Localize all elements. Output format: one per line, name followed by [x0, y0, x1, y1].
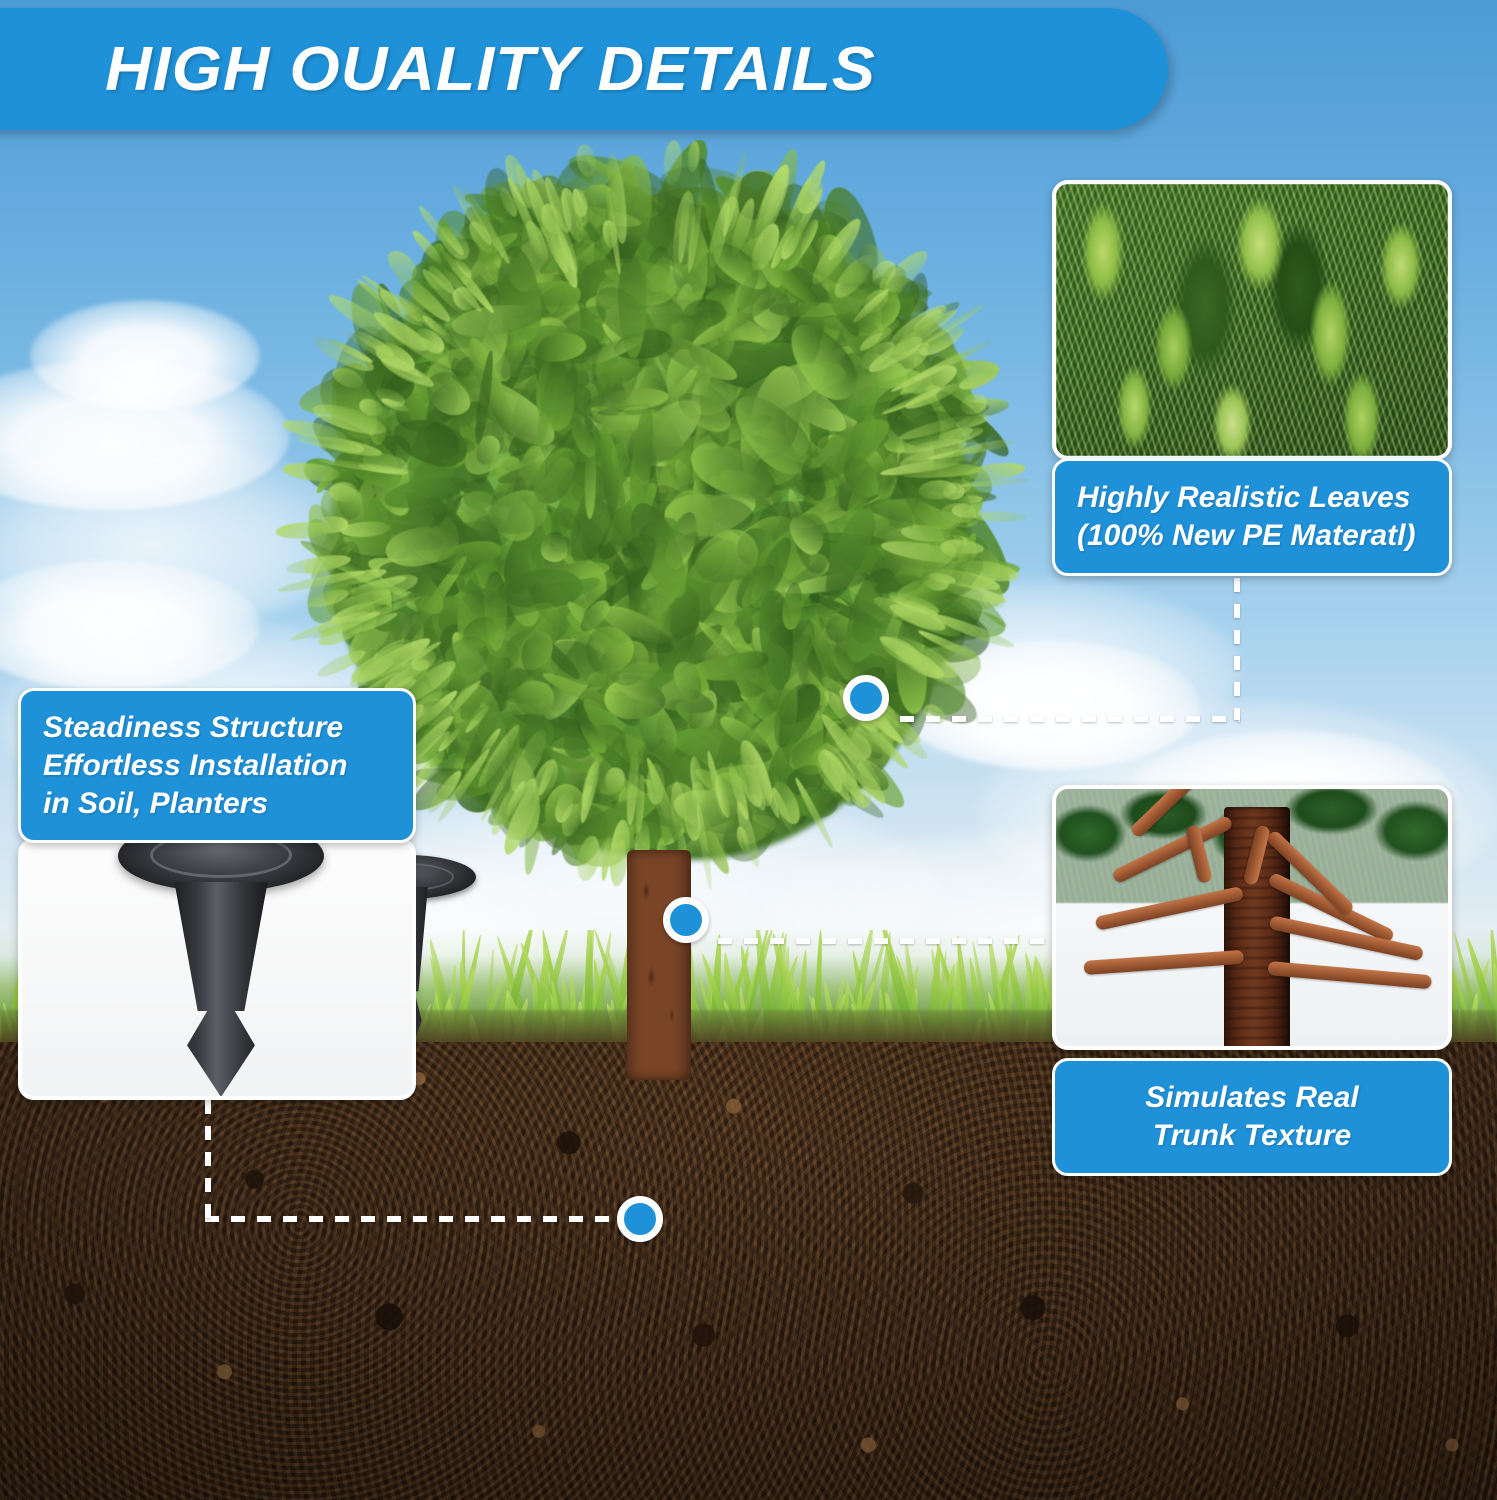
product-detail-infographic: HIGH OUALITY DETAILS Highly Realistic Le… [0, 0, 1497, 1500]
leaves-texture [1056, 184, 1448, 456]
stake-scene [22, 842, 412, 1096]
ground-stake-photo [18, 838, 416, 1100]
trunk-photo-branch [1084, 950, 1245, 975]
callout-label-stake-line1: Steadiness Structure [43, 709, 391, 747]
trunk-photo-branch [1267, 961, 1432, 989]
callout-line-stake-vertical [205, 1100, 211, 1220]
callout-line-trunk-horizontal [718, 938, 1054, 944]
callout-line-stake-horizontal [205, 1216, 647, 1222]
canopy-frond-tip [952, 503, 983, 518]
header-banner: HIGH OUALITY DETAILS [0, 8, 1168, 130]
callout-dot-trunk[interactable] [663, 897, 709, 943]
callout-label-trunk: Simulates Real Trunk Texture [1052, 1058, 1452, 1176]
callout-line-leaves-vertical [1234, 578, 1240, 720]
callout-label-stake-line3: in Soil, Planters [43, 785, 391, 823]
callout-label-stake-line2: Effortless Installation [43, 747, 391, 785]
callout-label-stake: Steadiness Structure Effortless Installa… [18, 688, 416, 843]
page-title: HIGH OUALITY DETAILS [105, 34, 876, 105]
trunk-closeup-photo [1052, 785, 1452, 1050]
canopy-frond-tip [647, 764, 665, 805]
stake-photo-spike [168, 882, 274, 1097]
leaves-closeup-photo [1052, 180, 1452, 460]
callout-dot-leaves[interactable] [843, 675, 889, 721]
trunk-bark-texture [627, 850, 691, 1080]
callout-label-leaves-line2: (100% New PE Materatl) [1077, 517, 1427, 555]
trunk-scene [1056, 789, 1448, 1046]
callout-label-leaves: Highly Realistic Leaves (100% New PE Mat… [1052, 458, 1452, 576]
callout-label-trunk-line2: Trunk Texture [1077, 1117, 1427, 1155]
tree-trunk [627, 850, 691, 1080]
callout-dot-stake[interactable] [617, 1196, 663, 1242]
canopy-frond [522, 637, 552, 675]
callout-line-leaves-horizontal [900, 716, 1240, 722]
callout-label-trunk-line1: Simulates Real [1077, 1079, 1427, 1117]
callout-label-leaves-line1: Highly Realistic Leaves [1077, 479, 1427, 517]
